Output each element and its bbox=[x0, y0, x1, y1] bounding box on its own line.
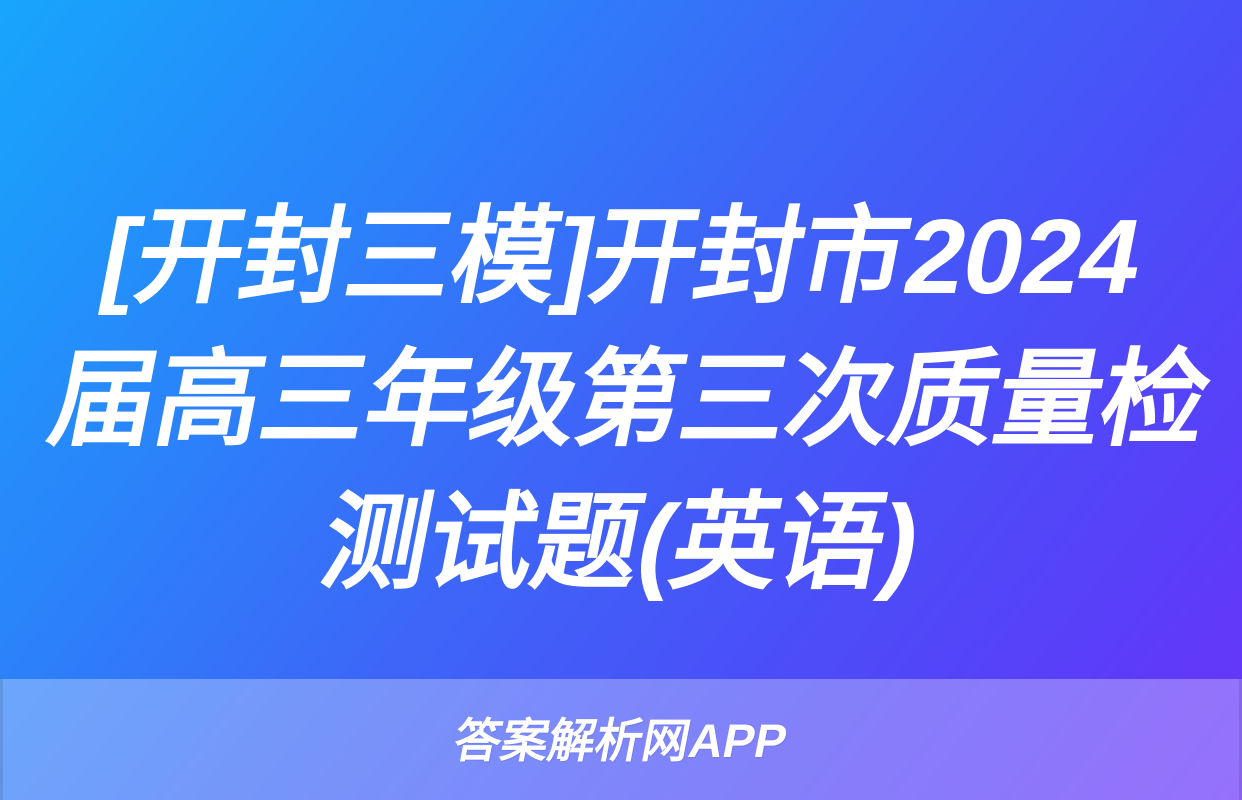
page-title: [开封三模]开封市2024 届高三年级第三次质量检 测试题(英语) bbox=[0, 186, 1242, 615]
title-line-1: [开封三模]开封市2024 bbox=[38, 186, 1204, 329]
watermark-brand-label: 答案解析网APP bbox=[450, 717, 791, 764]
band-edge-left bbox=[0, 679, 3, 800]
title-line-2: 届高三年级第三次质量检 bbox=[38, 329, 1204, 472]
watermark-band: 答案解析网APP bbox=[0, 679, 1242, 800]
exam-title-card: [开封三模]开封市2024 届高三年级第三次质量检 测试题(英语) 答案解析网A… bbox=[0, 0, 1242, 800]
title-line-3: 测试题(英语) bbox=[38, 472, 1204, 615]
